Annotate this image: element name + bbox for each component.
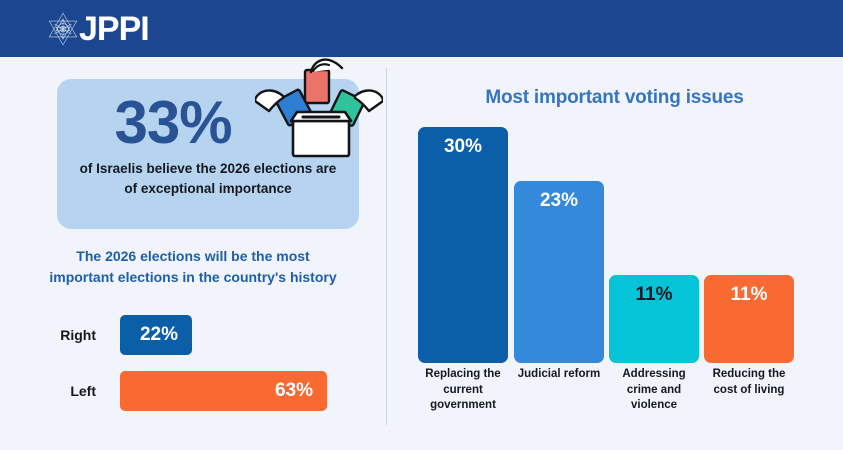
x-axis-labels: Replacing the current government Judicia… (410, 367, 820, 427)
bar-cost-of-living: 11% (704, 275, 794, 363)
bar-value-right: 22% (140, 324, 178, 346)
bar-value-0: 30% (444, 136, 482, 158)
bar-column-0: 30% (418, 127, 508, 363)
bar-judicial-reform: 23% (514, 181, 604, 363)
headline-statistic-description: of Israelis believe the 2026 elections a… (73, 159, 343, 198)
x-label-2: Addressing crime and violence (606, 367, 702, 414)
bar-value-2: 11% (636, 284, 673, 306)
bar-row-left: Left 63% (0, 371, 386, 411)
ballot-box-icon (255, 56, 383, 164)
brand-logo[interactable]: JPPI (45, 11, 149, 47)
bar-column-3: 11% (704, 275, 794, 363)
left-panel: 33% of Israelis believe the 2026 electio… (0, 57, 386, 450)
bar-value-3: 11% (731, 284, 768, 306)
x-label-1: Judicial reform (511, 367, 607, 383)
vertical-bar-chart: 30% 23% 11% 11% (410, 127, 820, 363)
bar-addressing-crime: 11% (609, 275, 699, 363)
right-panel: Most important voting issues 30% 23% 11%… (386, 57, 843, 450)
bar-left: 63% (120, 371, 327, 411)
bar-label-right: Right (0, 315, 108, 355)
bar-label-left: Left (0, 371, 108, 411)
infographic-page: JPPI 33% of Israelis believe the 2026 el… (0, 0, 843, 450)
bar-column-2: 11% (609, 275, 699, 363)
header-bar: JPPI (0, 0, 843, 57)
brand-name: JPPI (79, 12, 149, 46)
bar-row-right: Right 22% (0, 315, 386, 355)
bar-right: 22% (120, 315, 192, 355)
right-chart-title: Most important voting issues (386, 87, 843, 109)
bar-column-1: 23% (514, 181, 604, 363)
bar-value-left: 63% (275, 380, 313, 402)
bar-value-1: 23% (540, 190, 578, 212)
star-of-david-icon (45, 11, 81, 47)
x-label-0: Replacing the current government (415, 367, 511, 414)
horizontal-bar-chart: Right 22% Left 63% (0, 315, 386, 425)
bar-replacing-government: 30% (418, 127, 508, 363)
left-chart-title: The 2026 elections will be the most impo… (43, 246, 343, 288)
x-label-3: Reducing the cost of living (701, 367, 797, 398)
